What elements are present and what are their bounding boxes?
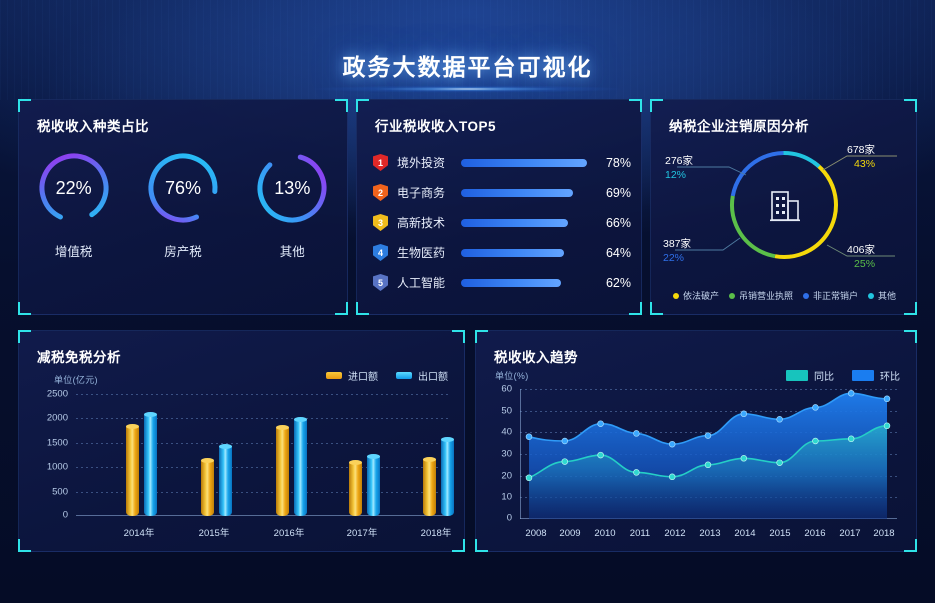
y-tick-label: 40	[501, 427, 512, 438]
panel-tax-share: 税收收入种类占比 22% 增值税	[18, 99, 348, 315]
x-tick-label: 2018年	[421, 525, 452, 539]
gauge-group: 22% 增值税 76% 房产税	[19, 150, 347, 260]
donut-callout-count: 276家	[665, 155, 693, 167]
gauge-label: 增值税	[28, 241, 120, 260]
y-tick-label: 50	[501, 405, 512, 416]
rank-label: 电子商务	[397, 184, 459, 201]
legend-item[interactable]: 同比	[786, 368, 834, 383]
x-tick-label: 2012	[664, 528, 685, 539]
corner-bracket-tr	[904, 330, 917, 343]
corner-bracket-bl	[650, 302, 663, 315]
donut-callout-678: 678家 43%	[847, 142, 875, 170]
legend-label: 出口额	[418, 368, 448, 383]
panel-tax-trend: 税收收入趋势 单位(%) 同比 环比 60 50 40 30 20 10 0	[475, 330, 917, 552]
x-tick-label: 2017	[839, 528, 860, 539]
rank-bar-track	[461, 279, 587, 287]
rank-bar-fill	[461, 219, 568, 227]
x-tick-label: 2010	[594, 528, 615, 539]
donut-callout-percent: 22%	[663, 252, 691, 264]
donut-callout-percent: 12%	[665, 169, 693, 181]
legend-item[interactable]: 环比	[852, 368, 900, 383]
bar-chart-plot: 2500 2000 1500 1000 500 0	[76, 394, 448, 516]
y-tick-label: 1500	[47, 437, 68, 448]
legend-label: 非正常销户	[813, 289, 858, 302]
legend-item[interactable]: 依法破产	[673, 289, 719, 302]
corner-bracket-bl	[18, 539, 31, 552]
gauge-item[interactable]: 22% 增值税	[28, 150, 120, 260]
legend-item[interactable]: 其他	[868, 289, 896, 302]
rank-bar-fill	[461, 279, 561, 287]
legend-dot-icon	[729, 293, 735, 299]
x-tick-label: 2017年	[347, 525, 378, 539]
legend-swatch-icon	[326, 372, 342, 379]
corner-bracket-br	[904, 539, 917, 552]
x-tick-label: 2015	[769, 528, 790, 539]
gridline: 2000	[76, 418, 448, 419]
rank-percent: 64%	[597, 246, 631, 260]
panel-industry-top5: 行业税收收入TOP5 1 境外投资 78% 2 电子商务 69% 3 高新技术 …	[356, 99, 642, 315]
y-tick-label: 0	[507, 513, 512, 524]
corner-bracket-br	[629, 302, 642, 315]
legend-label: 吊销营业执照	[739, 289, 793, 302]
legend-item[interactable]: 非正常销户	[803, 289, 858, 302]
rank-percent: 69%	[597, 186, 631, 200]
x-tick-label: 2011	[630, 528, 650, 539]
rank-bar-fill	[461, 189, 573, 197]
title-glow-decoration	[258, 84, 678, 94]
donut-callout-count: 406家	[847, 244, 875, 256]
building-icon	[764, 184, 806, 226]
list-item[interactable]: 4 生物医药 64%	[373, 238, 631, 267]
rank-bar-track	[461, 249, 587, 257]
axis-unit-label: 单位(亿元)	[54, 373, 98, 386]
gauge-ring: 76%	[145, 150, 221, 226]
x-tick-label: 2014	[734, 528, 755, 539]
corner-bracket-tl	[475, 330, 488, 343]
corner-bracket-br	[335, 302, 348, 315]
panel-reduction-analysis: 减税免税分析 单位(亿元) 进口额 出口额 2500 2000 1500 100…	[18, 330, 465, 552]
donut-legend: 依法破产 吊销营业执照 非正常销户 其他	[651, 289, 918, 302]
gauge-label: 其他	[246, 241, 338, 260]
legend-label: 进口额	[348, 368, 378, 383]
legend-label: 同比	[814, 368, 834, 383]
rank-badge-icon: 5	[373, 274, 388, 291]
gauge-value: 13%	[254, 150, 330, 226]
rank-percent: 62%	[597, 276, 631, 290]
x-tick-label: 2015年	[199, 525, 230, 539]
y-tick-label: 0	[63, 510, 68, 521]
legend-dot-icon	[868, 293, 874, 299]
rank-bar-track	[461, 159, 587, 167]
donut-callout-count: 387家	[663, 238, 691, 250]
trend-chart-legend: 同比 环比	[786, 368, 900, 383]
donut-callout-percent: 43%	[847, 158, 875, 170]
legend-swatch-icon	[852, 370, 874, 381]
corner-bracket-bl	[475, 539, 488, 552]
rank-label: 生物医药	[397, 244, 459, 261]
x-tick-label: 2018	[873, 528, 894, 539]
donut-callout-percent: 25%	[847, 258, 875, 270]
rank-percent: 78%	[597, 156, 631, 170]
gauge-ring: 22%	[36, 150, 112, 226]
donut-callout-276: 276家 12%	[665, 153, 693, 181]
legend-label: 环比	[880, 368, 900, 383]
x-tick-label: 2016年	[274, 525, 305, 539]
x-tick-label: 2008	[525, 528, 546, 539]
list-item[interactable]: 5 人工智能 62%	[373, 268, 631, 297]
rank-bar-track	[461, 189, 587, 197]
y-tick-label: 20	[501, 470, 512, 481]
legend-label: 其他	[878, 289, 896, 302]
x-tick-label: 2016	[804, 528, 825, 539]
rank-bar-fill	[461, 159, 587, 167]
gauge-label: 房产税	[137, 241, 229, 260]
gauge-item[interactable]: 76% 房产税	[137, 150, 229, 260]
list-item[interactable]: 3 高新技术 66%	[373, 208, 631, 237]
legend-swatch-icon	[396, 372, 412, 379]
donut-chart[interactable]: 678家 43% 276家 12% 387家 22% 406家 25%	[651, 130, 918, 280]
y-tick-label: 1000	[47, 462, 68, 473]
corner-bracket-tr	[629, 99, 642, 112]
rank-badge-icon: 3	[373, 214, 388, 231]
donut-callout-count: 678家	[847, 144, 875, 156]
corner-bracket-br	[452, 539, 465, 552]
panel-title-tax-share: 税收收入种类占比	[37, 115, 149, 135]
corner-bracket-tl	[356, 99, 369, 112]
legend-item[interactable]: 出口额	[396, 368, 448, 383]
rank-percent: 66%	[597, 216, 631, 230]
panel-title-top5: 行业税收收入TOP5	[375, 115, 496, 135]
panel-cancel-reason: 纳税企业注销原因分析	[650, 99, 917, 315]
page-title: 政务大数据平台可视化	[0, 48, 935, 82]
corner-bracket-tr	[452, 330, 465, 343]
corner-bracket-tr	[335, 99, 348, 112]
legend-label: 依法破产	[683, 289, 719, 302]
x-tick-label: 2009	[559, 528, 580, 539]
y-tick-label: 30	[501, 449, 512, 460]
panel-title-trend: 税收收入趋势	[494, 346, 578, 366]
corner-bracket-tl	[650, 99, 663, 112]
corner-bracket-bl	[18, 302, 31, 315]
rank-bar-track	[461, 219, 587, 227]
gauge-ring: 13%	[254, 150, 330, 226]
rank-badge-icon: 2	[373, 184, 388, 201]
trend-chart-plot: 60 50 40 30 20 10 0	[520, 389, 897, 519]
rank-label: 人工智能	[397, 274, 459, 291]
corner-bracket-bl	[356, 302, 369, 315]
list-item[interactable]: 1 境外投资 78%	[373, 148, 631, 177]
corner-bracket-br	[904, 302, 917, 315]
gauge-item[interactable]: 13% 其他	[246, 150, 338, 260]
rank-badge-icon: 4	[373, 244, 388, 261]
axis-unit-label: 单位(%)	[495, 369, 529, 382]
gauge-value: 76%	[145, 150, 221, 226]
rank-label: 高新技术	[397, 214, 459, 231]
gridline: 2500	[76, 394, 448, 395]
legend-item[interactable]: 吊销营业执照	[729, 289, 793, 302]
corner-bracket-tr	[904, 99, 917, 112]
gauge-value: 22%	[36, 150, 112, 226]
y-tick-label: 60	[501, 384, 512, 395]
list-item[interactable]: 2 电子商务 69%	[373, 178, 631, 207]
panel-title-reduction: 减税免税分析	[37, 346, 121, 366]
x-tick-label: 2014年	[124, 525, 155, 539]
legend-item[interactable]: 进口额	[326, 368, 378, 383]
y-tick-label: 500	[52, 486, 68, 497]
rank-label: 境外投资	[397, 154, 459, 171]
corner-bracket-tl	[18, 99, 31, 112]
legend-dot-icon	[803, 293, 809, 299]
rank-bar-fill	[461, 249, 564, 257]
y-tick-label: 2000	[47, 413, 68, 424]
donut-callout-387: 387家 22%	[663, 236, 691, 264]
rank-list: 1 境外投资 78% 2 电子商务 69% 3 高新技术 66% 4 生物医药	[373, 148, 631, 298]
legend-dot-icon	[673, 293, 679, 299]
legend-swatch-icon	[786, 370, 808, 381]
trend-areas	[520, 389, 897, 519]
bar-chart-legend: 进口额 出口额	[326, 368, 448, 383]
x-tick-label: 2013	[699, 528, 720, 539]
donut-callout-406: 406家 25%	[847, 242, 875, 270]
y-tick-label: 2500	[47, 389, 68, 400]
rank-badge-icon: 1	[373, 154, 388, 171]
y-tick-label: 10	[501, 492, 512, 503]
corner-bracket-tl	[18, 330, 31, 343]
